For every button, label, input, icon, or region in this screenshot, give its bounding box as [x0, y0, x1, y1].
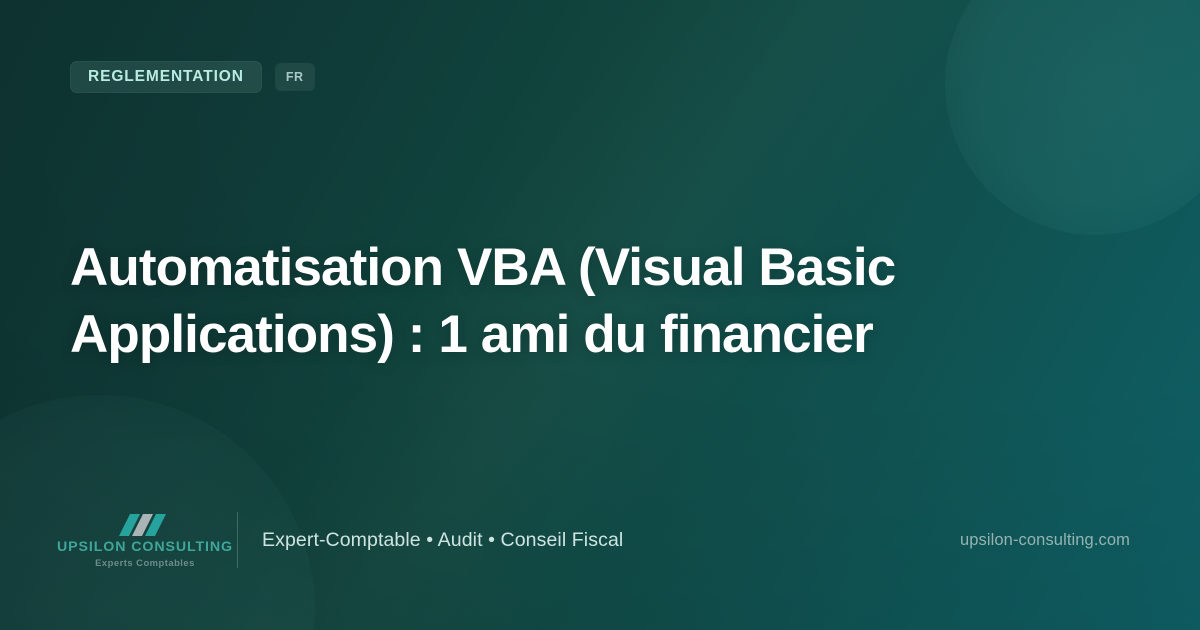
decorative-circle-top-right: [945, 0, 1200, 235]
page-title: Automatisation VBA (Visual Basic Applica…: [70, 234, 900, 368]
services-tagline: Expert-Comptable • Audit • Conseil Fisca…: [262, 529, 623, 552]
category-badge[interactable]: REGLEMENTATION: [70, 61, 262, 93]
page-title-line-2: Applications) : 1 ami du financier: [70, 301, 900, 368]
logo-subtitle: Experts Comptables: [95, 558, 195, 567]
badge-row: REGLEMENTATION FR: [70, 61, 315, 93]
logo-wordmark: UPSILON CONSULTING: [57, 540, 233, 554]
website-url[interactable]: upsilon-consulting.com: [960, 531, 1130, 550]
three-slanted-bars-icon: [117, 512, 173, 538]
page-title-line-1: Automatisation VBA (Visual Basic: [70, 234, 900, 301]
footer-divider: [237, 512, 238, 568]
brand-logo[interactable]: UPSILON CONSULTING Experts Comptables: [70, 512, 220, 568]
language-badge[interactable]: FR: [275, 63, 315, 91]
social-share-card: REGLEMENTATION FR Automatisation VBA (Vi…: [0, 0, 1200, 630]
card-footer: UPSILON CONSULTING Experts Comptables Ex…: [70, 505, 1130, 575]
